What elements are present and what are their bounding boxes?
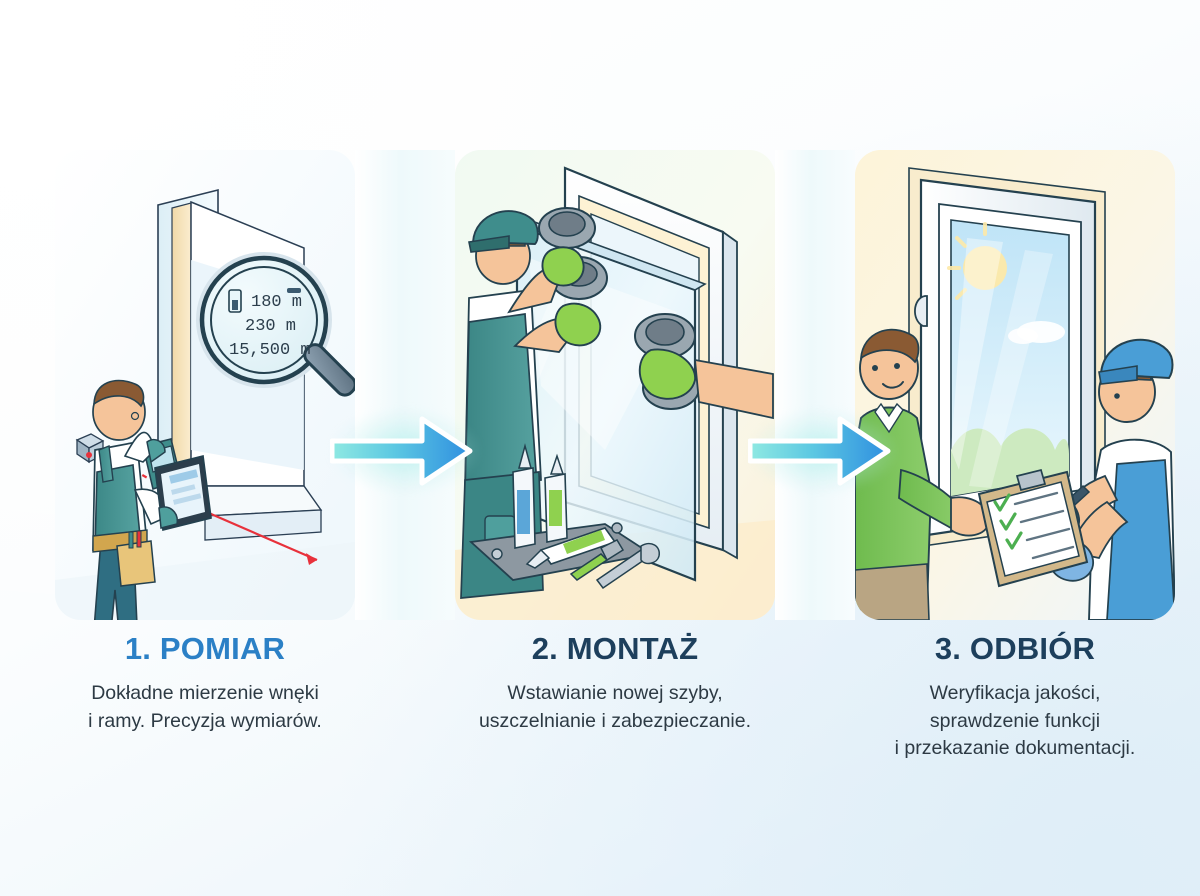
caption-step-2: 2. MONTAŻ Wstawianie nowej szyby, uszcze… <box>440 632 790 735</box>
step-description-3: Weryfikacja jakości, sprawdzenie funkcji… <box>840 680 1190 763</box>
step-description-3-line-1: Weryfikacja jakości, <box>840 680 1190 708</box>
arrow-shape-2 <box>750 419 888 483</box>
arrow-step2-to-step3 <box>748 408 898 494</box>
caption-step-1: 1. POMIAR Dokładne mierzenie wnęki i ram… <box>40 632 370 735</box>
screw-icon <box>492 549 502 559</box>
step-description-1-line-1: Dokładne mierzenie wnęki <box>40 680 370 708</box>
step-description-1: Dokładne mierzenie wnęki i ramy. Precyzj… <box>40 680 370 735</box>
suction-cup-1 <box>539 208 595 248</box>
arrow-step1-to-step2 <box>330 408 480 494</box>
step-panel-measurement[interactable]: 180 m 230 m 15,500 m <box>55 150 355 620</box>
infographic-root: 180 m 230 m 15,500 m <box>0 0 1200 896</box>
step-description-2-line-1: Wstawianie nowej szyby, <box>440 680 790 708</box>
step-description-1-line-2: i ramy. Precyzja wymiarów. <box>40 708 370 736</box>
arrow-shape-1 <box>332 419 470 483</box>
step-description-2: Wstawianie nowej szyby, uszczelnianie i … <box>440 680 790 735</box>
step-description-3-line-2: sprawdzenie funkcji <box>840 708 1190 736</box>
panel-gap-wash-1 <box>355 150 455 620</box>
step-panel-handover[interactable] <box>855 150 1175 620</box>
step-title-1: 1. POMIAR <box>40 632 370 666</box>
measuring-scene: 180 m 230 m 15,500 m <box>55 150 355 620</box>
installer-overalls <box>1107 460 1175 620</box>
installation-scene <box>455 150 775 620</box>
step-title-3: 3. ODBIÓR <box>840 632 1190 666</box>
glove-green-upper <box>542 247 583 285</box>
panel-gap-wash-2 <box>775 150 855 620</box>
step-description-3-line-3: i przekazanie dokumentacji. <box>840 735 1190 763</box>
readout-line-2: 230 m <box>245 317 296 336</box>
step-title-2: 2. MONTAŻ <box>440 632 790 666</box>
caption-step-3: 3. ODBIÓR Weryfikacja jakości, sprawdzen… <box>840 632 1190 763</box>
panels-row: 180 m 230 m 15,500 m <box>0 0 1200 630</box>
step-panel-installation[interactable] <box>455 150 775 620</box>
readout-line-3: 15,500 m <box>229 341 311 360</box>
customer-trousers <box>855 564 929 620</box>
handover-scene <box>855 150 1175 620</box>
step-description-2-line-2: uszczelnianie i zabezpieczanie. <box>440 708 790 736</box>
readout-line-1: 180 m <box>251 293 302 312</box>
